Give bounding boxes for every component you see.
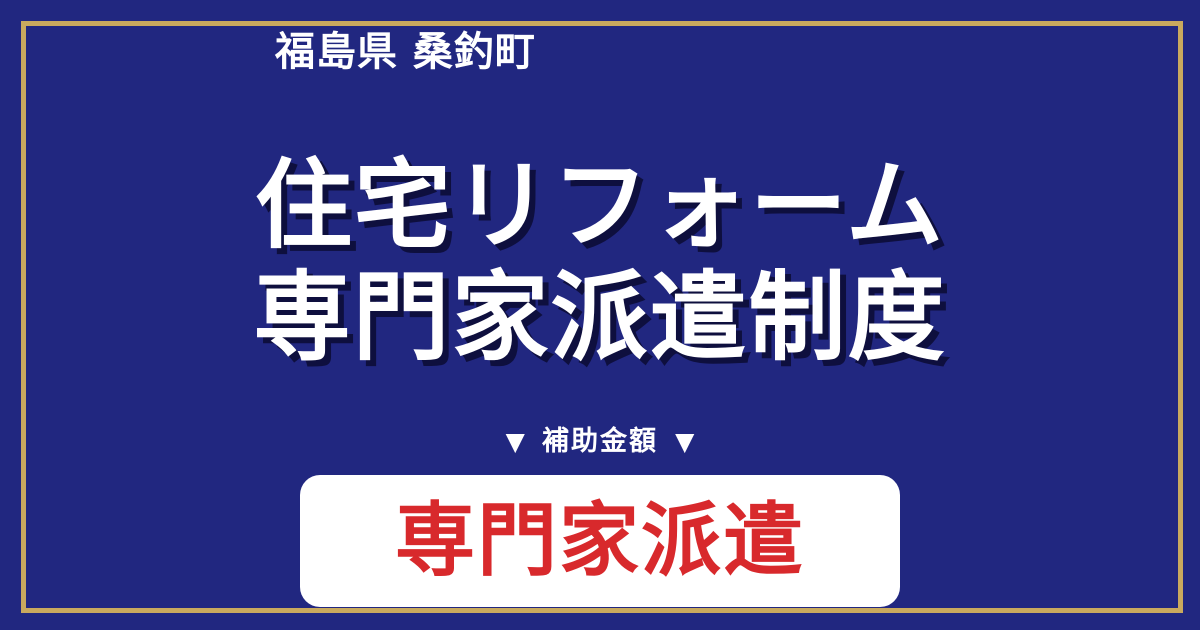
title-line-2: 専門家派遣制度 [0,262,1200,374]
subsidy-amount-caption: ▼ 補助金額 ▼ [0,428,1200,455]
subsidy-amount-value: 専門家派遣 [395,501,805,581]
subsidy-amount-badge: 専門家派遣 [300,475,900,607]
triangle-down-right-icon: ▼ [675,429,694,454]
poster-canvas: 福島県 桑釣町 住宅リフォーム 専門家派遣制度 ▼ 補助金額 ▼ 専門家派遣 [0,0,1200,630]
triangle-down-left-icon: ▼ [506,429,525,454]
subsidy-amount-label: 補助金額 [542,428,658,455]
page-title: 住宅リフォーム 専門家派遣制度 [0,150,1200,373]
title-line-1: 住宅リフォーム [0,150,1200,262]
header-municipality-row: 福島県 桑釣町 [275,24,1135,80]
municipality-label: 福島県 桑釣町 [275,32,536,72]
